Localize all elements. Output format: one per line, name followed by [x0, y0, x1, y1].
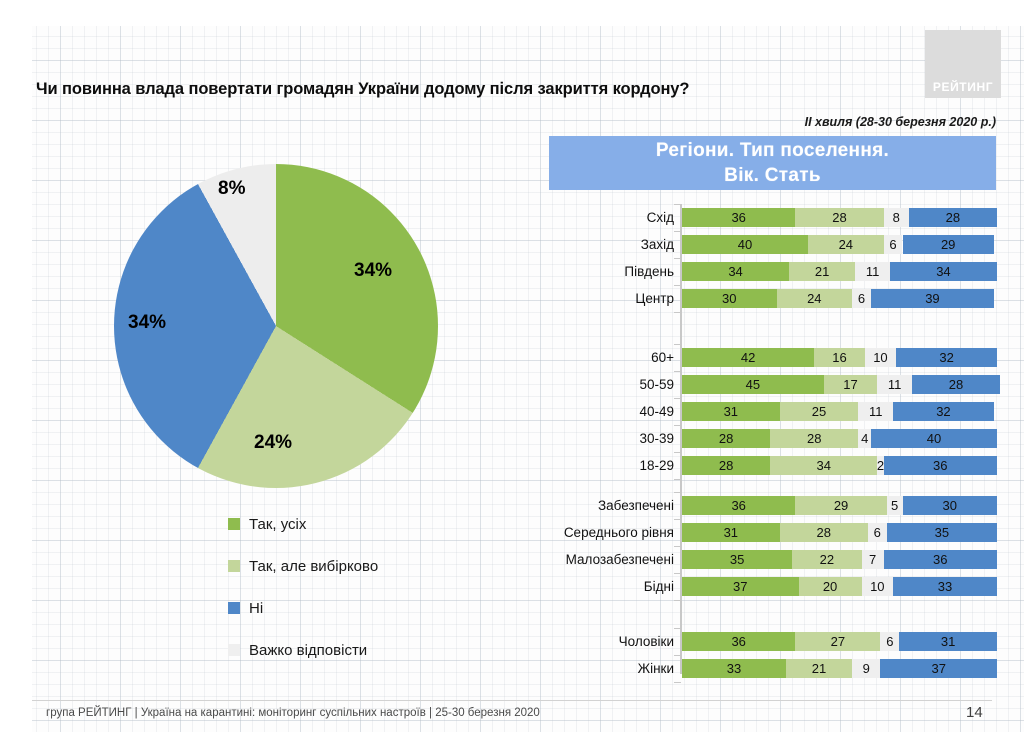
bar-segment: 40	[871, 429, 997, 448]
bar-row-label: Центр	[635, 289, 674, 308]
bar-row: 40-4931251132	[546, 402, 998, 421]
legend-item: Так, усіх	[228, 503, 378, 545]
bar-row: Жінки3321937	[546, 659, 998, 678]
axis-tick	[674, 371, 681, 372]
bar-row-label: 40-49	[639, 402, 674, 421]
bar-track: 3024639	[682, 289, 997, 308]
bar-row-label: Середнього рівня	[564, 523, 674, 542]
bar-segment: 36	[884, 456, 997, 475]
bar-row: Схід3628828	[546, 208, 998, 227]
bar-segment: 8	[884, 208, 909, 227]
bar-track: 3128635	[682, 523, 997, 542]
bar-segment: 6	[880, 632, 899, 651]
axis-tick	[674, 546, 681, 547]
axis-tick	[674, 682, 681, 683]
bar-segment: 31	[682, 523, 780, 542]
bar-segment: 22	[792, 550, 861, 569]
bar-segment: 21	[789, 262, 855, 281]
bar-row: Забезпечені3629530	[546, 496, 998, 515]
axis-tick	[674, 600, 681, 601]
bar-row-label: Малозабезпечені	[566, 550, 674, 569]
axis-tick	[674, 452, 681, 453]
bar-row-label: 30-39	[639, 429, 674, 448]
bar-segment: 30	[682, 289, 777, 308]
bar-row-label: 50-59	[639, 375, 674, 394]
bar-segment: 11	[858, 402, 893, 421]
legend-swatch-3	[228, 644, 240, 656]
logo-label: РЕЙТИНГ	[925, 80, 1001, 94]
bar-row-label: 60+	[651, 348, 674, 367]
axis-tick	[674, 398, 681, 399]
axis-tick	[674, 425, 681, 426]
section-banner: Регіони. Тип поселення. Вік. Стать	[549, 136, 996, 190]
footer-divider	[32, 700, 992, 701]
bar-segment: 40	[682, 235, 808, 254]
bar-track: 3627631	[682, 632, 997, 651]
bar-row: Чоловіки3627631	[546, 632, 998, 651]
axis-tick	[674, 258, 681, 259]
bar-segment: 36	[884, 550, 997, 569]
bar-segment: 11	[877, 375, 912, 394]
bar-segment: 6	[868, 523, 887, 542]
bar-segment: 39	[871, 289, 994, 308]
axis-tick	[674, 231, 681, 232]
bar-segment: 35	[887, 523, 997, 542]
bar-row-label: 18-29	[639, 456, 674, 475]
axis-tick	[674, 204, 681, 205]
bar-segment: 7	[862, 550, 884, 569]
bar-segment: 34	[770, 456, 877, 475]
legend-label: Так, усіх	[249, 516, 306, 533]
legend-label: Так, але вибірково	[249, 558, 378, 575]
bar-segment: 45	[682, 375, 824, 394]
banner-line-1: Регіони. Тип поселення.	[656, 138, 889, 163]
bar-row: Захід4024629	[546, 235, 998, 254]
stacked-bar-chart: Схід3628828Захід4024629Південь34211134Це…	[546, 200, 998, 680]
bar-segment: 42	[682, 348, 814, 367]
bar-segment: 24	[777, 289, 853, 308]
bar-segment: 4	[858, 429, 871, 448]
bar-track: 3629530	[682, 496, 997, 515]
bar-segment: 28	[795, 208, 883, 227]
bar-segment: 28	[682, 429, 770, 448]
axis-tick	[674, 344, 681, 345]
axis-tick	[674, 519, 681, 520]
page-number: 14	[966, 704, 983, 721]
bar-track: 4024629	[682, 235, 997, 254]
bar-track: 2834236	[682, 456, 997, 475]
bar-segment: 6	[852, 289, 871, 308]
axis-tick	[674, 655, 681, 656]
bar-segment: 34	[682, 262, 789, 281]
bar-row: Середнього рівня3128635	[546, 523, 998, 542]
bar-track: 31251132	[682, 402, 997, 421]
bar-row: Центр3024639	[546, 289, 998, 308]
pie-chart: 34% 24% 34% 8%	[114, 164, 438, 488]
axis-tick	[674, 479, 681, 480]
bar-segment: 28	[780, 523, 868, 542]
bar-segment: 28	[912, 375, 1000, 394]
bar-segment: 10	[865, 348, 897, 367]
axis-tick	[674, 492, 681, 493]
bar-segment: 31	[682, 402, 780, 421]
bar-segment: 6	[884, 235, 903, 254]
bar-track: 34211134	[682, 262, 997, 281]
bar-track: 3321937	[682, 659, 997, 678]
bar-segment: 29	[795, 496, 886, 515]
bar-row-label: Схід	[647, 208, 674, 227]
bar-row-label: Південь	[624, 262, 674, 281]
top-margin	[0, 0, 1024, 26]
wave-subtitle: II хвиля (28-30 березня 2020 р.)	[805, 115, 996, 129]
bar-track: 42161032	[682, 348, 997, 367]
bar-segment: 24	[808, 235, 884, 254]
bar-row: Південь34211134	[546, 262, 998, 281]
bar-segment: 35	[682, 550, 792, 569]
bar-segment: 20	[799, 577, 862, 596]
legend-label: Ні	[249, 600, 263, 617]
bar-row-label: Жінки	[638, 659, 674, 678]
bar-segment: 5	[887, 496, 903, 515]
bar-track: 3522736	[682, 550, 997, 569]
legend-item: Важко відповісти	[228, 629, 378, 671]
bar-segment: 33	[682, 659, 786, 678]
legend-item: Так, але вибірково	[228, 545, 378, 587]
bar-row-label: Бідні	[644, 577, 674, 596]
pie-label-no: 34%	[128, 312, 166, 334]
bar-segment: 37	[682, 577, 799, 596]
bar-segment: 16	[814, 348, 864, 367]
bar-segment: 36	[682, 496, 795, 515]
bar-row: Малозабезпечені3522736	[546, 550, 998, 569]
bar-track: 3628828	[682, 208, 997, 227]
bar-segment: 30	[903, 496, 998, 515]
legend-item: Ні	[228, 587, 378, 629]
legend-swatch-2	[228, 602, 240, 614]
page-title: Чи повинна влада повертати громадян Укра…	[36, 80, 906, 99]
axis-tick	[674, 285, 681, 286]
legend-swatch-1	[228, 560, 240, 572]
bar-row: 18-292834236	[546, 456, 998, 475]
legend-swatch-0	[228, 518, 240, 530]
bar-segment: 29	[903, 235, 994, 254]
bar-track: 2828440	[682, 429, 997, 448]
bar-track: 45171128	[682, 375, 997, 394]
bar-segment: 11	[855, 262, 890, 281]
bar-row: 60+42161032	[546, 348, 998, 367]
bar-track: 37201033	[682, 577, 997, 596]
axis-tick	[674, 628, 681, 629]
bar-segment: 21	[786, 659, 852, 678]
bar-row-label: Чоловіки	[619, 632, 674, 651]
bar-segment: 28	[770, 429, 858, 448]
bar-segment: 28	[909, 208, 997, 227]
bar-segment: 31	[899, 632, 997, 651]
bar-segment: 36	[682, 632, 795, 651]
bar-segment: 37	[880, 659, 997, 678]
bar-row-label: Захід	[641, 235, 674, 254]
bar-segment: 36	[682, 208, 795, 227]
bar-row: Бідні37201033	[546, 577, 998, 596]
legend-label: Важко відповісти	[249, 642, 367, 659]
bar-segment: 9	[852, 659, 880, 678]
rating-logo: РЕЙТИНГ	[925, 30, 1001, 98]
left-margin	[0, 0, 32, 732]
footer-text: група РЕЙТИНГ | Україна на карантині: мо…	[46, 707, 540, 719]
bar-segment: 17	[824, 375, 878, 394]
bar-segment: 34	[890, 262, 997, 281]
pie-label-yes-selective: 24%	[254, 432, 292, 454]
legend: Так, усіхТак, але вибірковоНіВажко відпо…	[228, 503, 378, 671]
bar-row: 30-392828440	[546, 429, 998, 448]
bar-row: 50-5945171128	[546, 375, 998, 394]
axis-tick	[674, 573, 681, 574]
bar-segment: 27	[795, 632, 880, 651]
bar-segment: 10	[862, 577, 894, 596]
banner-line-2: Вік. Стать	[724, 163, 821, 188]
bar-segment: 32	[896, 348, 997, 367]
bar-segment: 25	[780, 402, 859, 421]
bar-row-label: Забезпечені	[598, 496, 674, 515]
bar-segment: 28	[682, 456, 770, 475]
axis-tick	[674, 312, 681, 313]
bar-segment: 33	[893, 577, 997, 596]
pie-label-yes-all: 34%	[354, 260, 392, 282]
pie-label-hard-to-say: 8%	[218, 178, 245, 200]
bar-segment: 32	[893, 402, 994, 421]
